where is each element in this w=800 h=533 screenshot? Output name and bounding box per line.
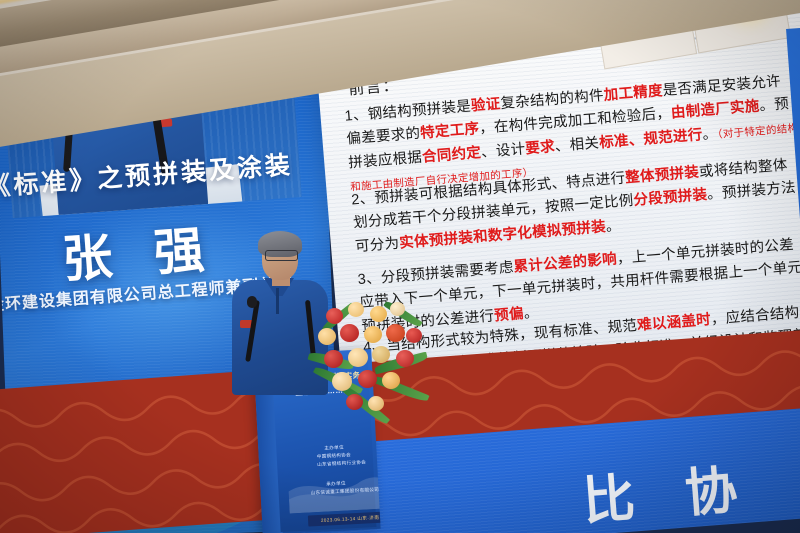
body-text: 、设计 bbox=[481, 141, 527, 161]
flower-cream bbox=[318, 328, 336, 345]
flower-red bbox=[396, 350, 414, 367]
speaker-glasses bbox=[265, 250, 298, 261]
highlighted-term: 要求 bbox=[525, 139, 556, 157]
podium-host-label: 主办单位 bbox=[324, 445, 344, 452]
highlighted-term: 难以涵盖时 bbox=[637, 312, 712, 334]
podium-date-banner: 2023.06.13-14 山东·济南 bbox=[308, 511, 381, 526]
flower-red bbox=[346, 394, 363, 410]
flower-red bbox=[326, 308, 343, 324]
flower-cream bbox=[390, 302, 405, 316]
flower-cream bbox=[368, 396, 384, 411]
paragraph-number: 3、 bbox=[357, 270, 381, 288]
podium-host-line1: 中国钢结构协会 bbox=[317, 452, 352, 460]
paragraph-number: 2、 bbox=[351, 191, 375, 209]
highlighted-term: 标准、规范进行 bbox=[599, 127, 704, 151]
flower-red bbox=[340, 324, 359, 342]
highlighted-term: 特定工序 bbox=[420, 121, 480, 142]
flower-cream bbox=[348, 348, 368, 367]
flower-cream bbox=[348, 302, 364, 317]
body-text: 。 bbox=[523, 305, 539, 322]
highlighted-term: 分段预拼装 bbox=[633, 187, 708, 209]
flower-cream bbox=[332, 372, 352, 391]
conference-photo: 张 强 建设集团 工程师兼副总裁 《标准》之预拼装及涂装 张 强 金环建设集团有… bbox=[0, 0, 800, 533]
flower-arrangement bbox=[312, 300, 434, 425]
flower-orange bbox=[386, 324, 405, 342]
flower-red bbox=[358, 370, 377, 388]
podium-date-text: 2023.06.13-14 山东·济南 bbox=[321, 514, 380, 523]
speaker-microphone-head bbox=[247, 296, 257, 308]
highlighted-term: 合同约定 bbox=[422, 145, 482, 166]
flower-yellow bbox=[382, 372, 400, 389]
flower-cream bbox=[372, 346, 390, 363]
flower-red bbox=[324, 350, 343, 368]
body-text: 。 bbox=[605, 218, 621, 235]
highlighted-term: 累计公差的影响 bbox=[513, 251, 618, 275]
podium-cohost-label: 承办单位 bbox=[326, 481, 346, 488]
highlighted-term: 预偏 bbox=[494, 306, 525, 324]
flower-yellow bbox=[370, 306, 387, 322]
speaker-placket bbox=[276, 288, 279, 314]
highlighted-term: 整体预拼装 bbox=[625, 165, 700, 187]
body-text: 。 bbox=[702, 126, 718, 143]
bottom-led-text: 比 协 bbox=[580, 446, 758, 533]
flower-red bbox=[406, 328, 422, 343]
flower-yellow bbox=[364, 326, 382, 343]
body-text: 、相关 bbox=[554, 135, 600, 155]
